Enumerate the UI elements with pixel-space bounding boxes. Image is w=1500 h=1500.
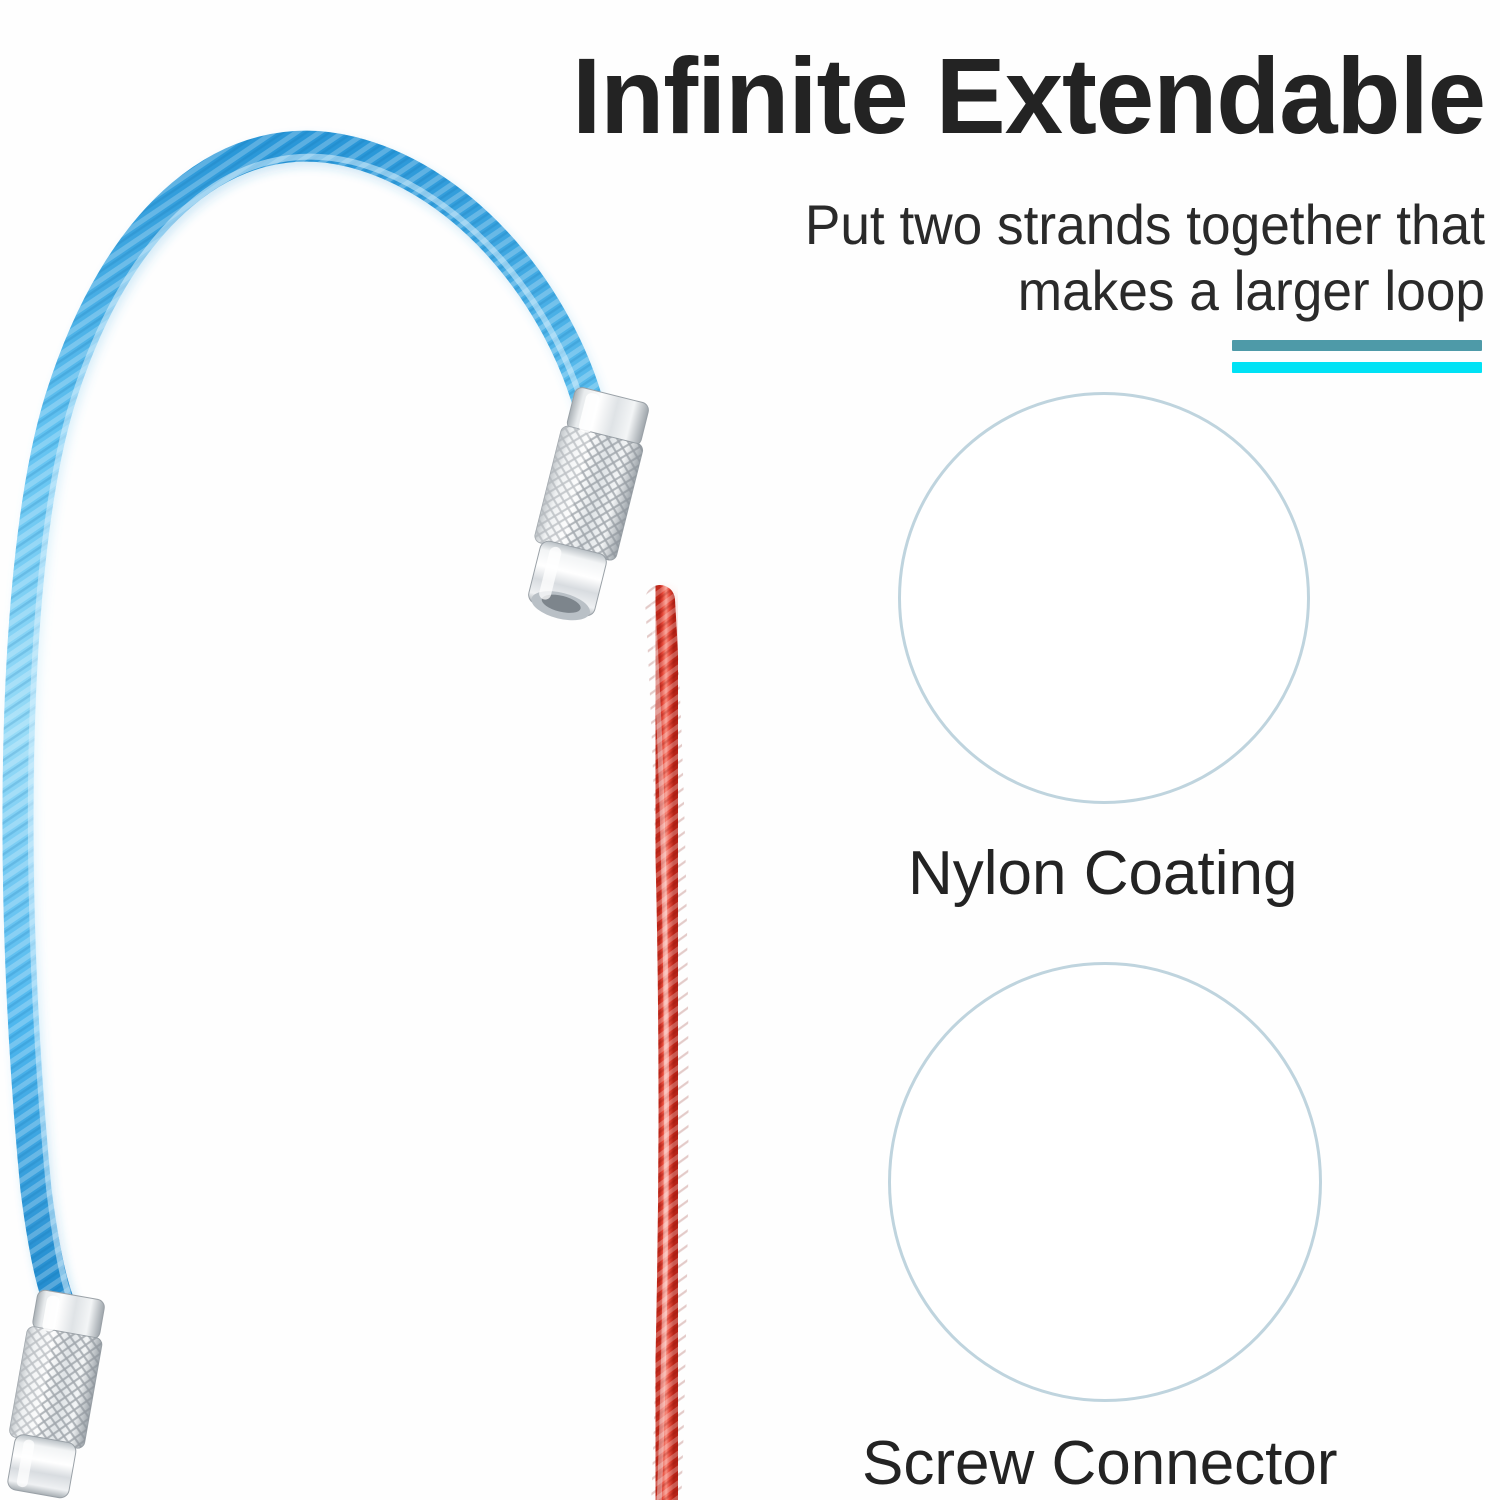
cable-connector-bottom [0, 1288, 109, 1500]
subtitle-line-1: Put two strands together that [606, 192, 1485, 258]
screw-connector-label: Screw Connector [862, 1428, 1338, 1499]
cable-connector-top [517, 385, 654, 628]
screw-connector-circle [888, 962, 1322, 1402]
product-feature-graphic: Infinite Extendable Put two strands toge… [0, 0, 1500, 1500]
red-cable-main [653, 600, 674, 1500]
accent-rules [1232, 340, 1482, 373]
main-cable-assembly [0, 146, 674, 1500]
page-title: Infinite Extendable [428, 38, 1485, 155]
nylon-coating-circle [898, 392, 1310, 804]
subtitle-line-2: makes a larger loop [606, 258, 1485, 324]
blue-cable-main [18, 146, 590, 1318]
accent-rule-top [1232, 340, 1482, 351]
accent-rule-bottom [1232, 362, 1482, 373]
nylon-coating-label: Nylon Coating [908, 838, 1297, 909]
subtitle: Put two strands together that makes a la… [606, 192, 1485, 324]
